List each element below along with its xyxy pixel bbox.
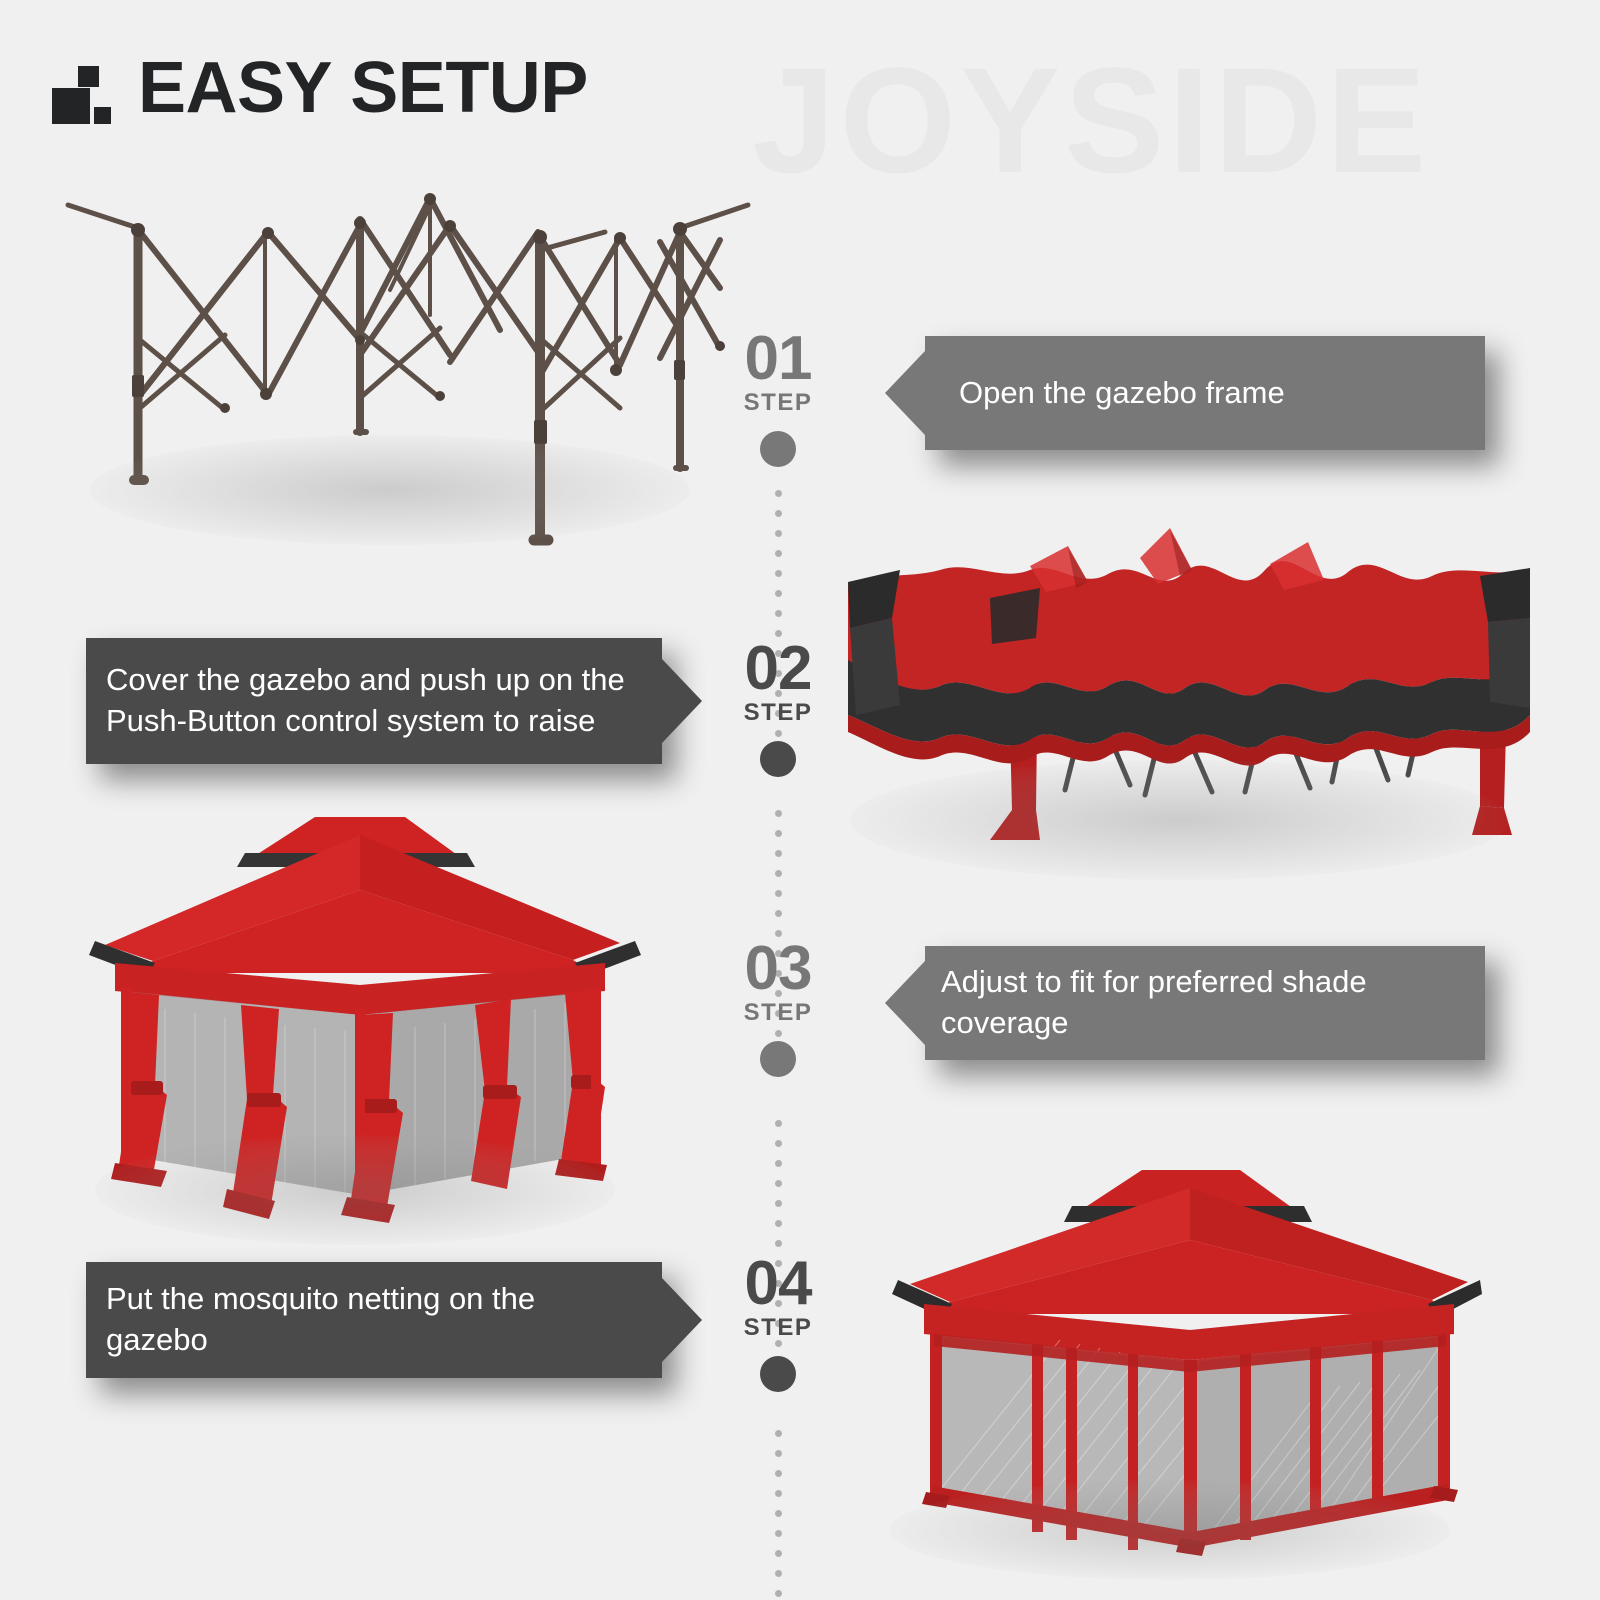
gazebo-canopy-draped-photo	[840, 510, 1540, 880]
step-02-number: 02	[718, 640, 838, 697]
step-03-callout[interactable]: Adjust to fit for preferred shade covera…	[925, 946, 1485, 1060]
step-02-marker: 02 STEP	[718, 640, 838, 777]
step-02-callout-box[interactable]: Cover the gazebo and push up on the Push…	[86, 638, 662, 764]
step-03-callout-box[interactable]: Adjust to fit for preferred shade covera…	[925, 946, 1485, 1060]
step-01-text: Open the gazebo frame	[959, 373, 1451, 414]
step-02-callout[interactable]: Cover the gazebo and push up on the Push…	[86, 638, 662, 764]
step-04-callout-box[interactable]: Put the mosquito netting on the gazebo	[86, 1262, 662, 1378]
step-02-text: Cover the gazebo and push up on the Push…	[106, 660, 642, 742]
step-04-text: Put the mosquito netting on the gazebo	[106, 1279, 642, 1361]
brand-watermark: JOYSIDE	[752, 38, 1430, 203]
three-squares-logo-icon	[52, 52, 112, 124]
step-04-callout[interactable]: Put the mosquito netting on the gazebo	[86, 1262, 662, 1378]
step-04-number: 04	[718, 1255, 838, 1312]
step-03-bullet	[760, 1041, 796, 1077]
step-03-marker: 03 STEP	[718, 940, 838, 1077]
step-01-marker: 01 STEP	[718, 330, 838, 467]
gazebo-raised-red-canopy-photo	[75, 795, 655, 1245]
page-header: EASY SETUP	[52, 52, 588, 124]
gazebo-with-mosquito-netting-photo	[880, 1150, 1500, 1560]
step-02-word: STEP	[718, 699, 838, 727]
page-title: EASY SETUP	[138, 52, 588, 124]
step-01-bullet	[760, 431, 796, 467]
step-03-word: STEP	[718, 999, 838, 1027]
step-01-callout[interactable]: Open the gazebo frame	[925, 336, 1485, 450]
gazebo-frame-unfolded-photo	[60, 180, 750, 570]
step-03-number: 03	[718, 940, 838, 997]
step-04-bullet	[760, 1356, 796, 1392]
step-01-callout-box[interactable]: Open the gazebo frame	[925, 336, 1485, 450]
step-04-marker: 04 STEP	[718, 1255, 838, 1392]
step-04-word: STEP	[718, 1314, 838, 1342]
step-03-text: Adjust to fit for preferred shade covera…	[941, 962, 1469, 1044]
step-02-bullet	[760, 741, 796, 777]
step-01-word: STEP	[718, 389, 838, 417]
infographic-page: JOYSIDE EASY SETUP	[0, 0, 1600, 1600]
step-01-number: 01	[718, 330, 838, 387]
